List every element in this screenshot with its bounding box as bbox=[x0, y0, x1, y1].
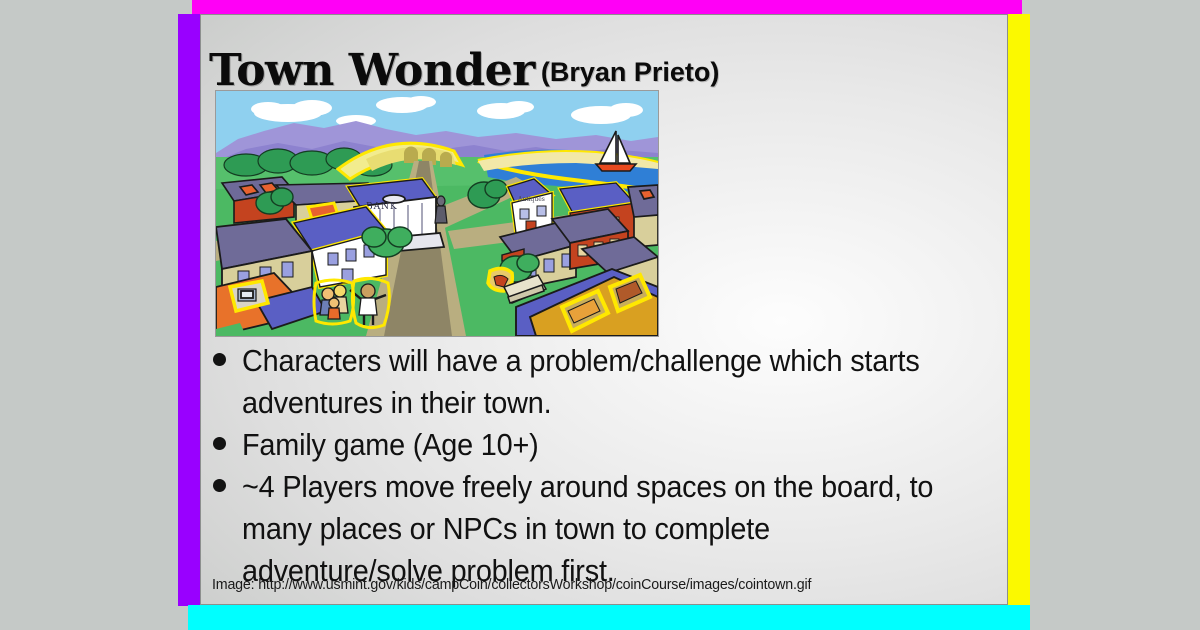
slide-title-row: Town Wonder(Bryan Prieto) bbox=[209, 45, 719, 96]
frame-bar-right bbox=[1008, 14, 1030, 605]
antiques-label: Antiques bbox=[517, 196, 545, 203]
slide-stage: Town Wonder(Bryan Prieto) bbox=[0, 0, 1200, 630]
town-illustration-svg: BANK bbox=[216, 91, 658, 336]
page-title: Town Wonder bbox=[209, 45, 535, 96]
frame-bar-left bbox=[178, 14, 200, 606]
bullet-text: Family game (Age 10+) bbox=[242, 424, 539, 466]
list-item: Family game (Age 10+) bbox=[205, 424, 995, 466]
bullet-dot-icon bbox=[213, 479, 226, 492]
bullet-dot-icon bbox=[213, 353, 226, 366]
title-author: (Bryan Prieto) bbox=[541, 57, 720, 87]
list-item: ~4 Players move freely around spaces on … bbox=[205, 466, 995, 592]
slide-canvas: Town Wonder(Bryan Prieto) bbox=[200, 14, 1008, 605]
town-illustration: BANK bbox=[215, 90, 659, 337]
bullet-text: Characters will have a problem/challenge… bbox=[242, 340, 942, 424]
bullet-text: ~4 Players move freely around spaces on … bbox=[242, 466, 942, 592]
frame-bar-bottom bbox=[188, 605, 1030, 630]
image-source-caption: Image: http://www.usmint.gov/kids/campCo… bbox=[212, 576, 811, 593]
list-item: Characters will have a problem/challenge… bbox=[205, 340, 995, 424]
bullet-list: Characters will have a problem/challenge… bbox=[205, 340, 995, 592]
frame-bar-top bbox=[192, 0, 1022, 14]
bullet-dot-icon bbox=[213, 437, 226, 450]
